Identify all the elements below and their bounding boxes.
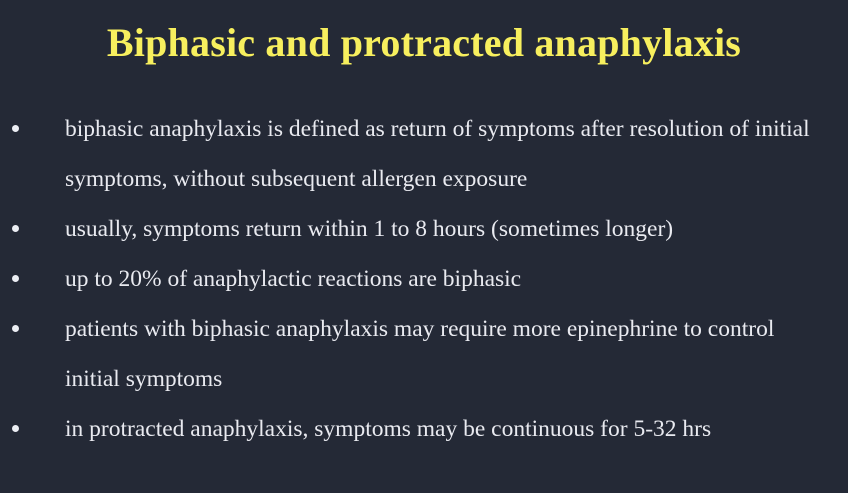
list-item: patients with biphasic anaphylaxis may r… — [0, 304, 848, 404]
list-item-label: patients with biphasic anaphylaxis may r… — [65, 304, 834, 404]
page-title: Biphasic and protracted anaphylaxis — [0, 18, 848, 68]
bullet-point-icon — [10, 304, 20, 354]
bullet-point-icon — [10, 404, 20, 454]
list-item: up to 20% of anaphylactic reactions are … — [0, 254, 848, 304]
list-item: biphasic anaphylaxis is defined as retur… — [0, 104, 848, 204]
list-item-label: biphasic anaphylaxis is defined as retur… — [65, 104, 834, 204]
bullet-point-icon — [10, 204, 20, 254]
list-item-label: usually, symptoms return within 1 to 8 h… — [65, 204, 834, 254]
bullet-point-icon — [10, 254, 20, 304]
presentation-slide: Biphasic and protracted anaphylaxis biph… — [0, 0, 848, 493]
bullet-point-icon — [10, 104, 20, 154]
list-item-label: in protracted anaphylaxis, symptoms may … — [65, 404, 834, 454]
bullet-list: biphasic anaphylaxis is defined as retur… — [0, 104, 848, 454]
list-item-label: up to 20% of anaphylactic reactions are … — [65, 254, 834, 304]
list-item: in protracted anaphylaxis, symptoms may … — [0, 404, 848, 454]
list-item: usually, symptoms return within 1 to 8 h… — [0, 204, 848, 254]
